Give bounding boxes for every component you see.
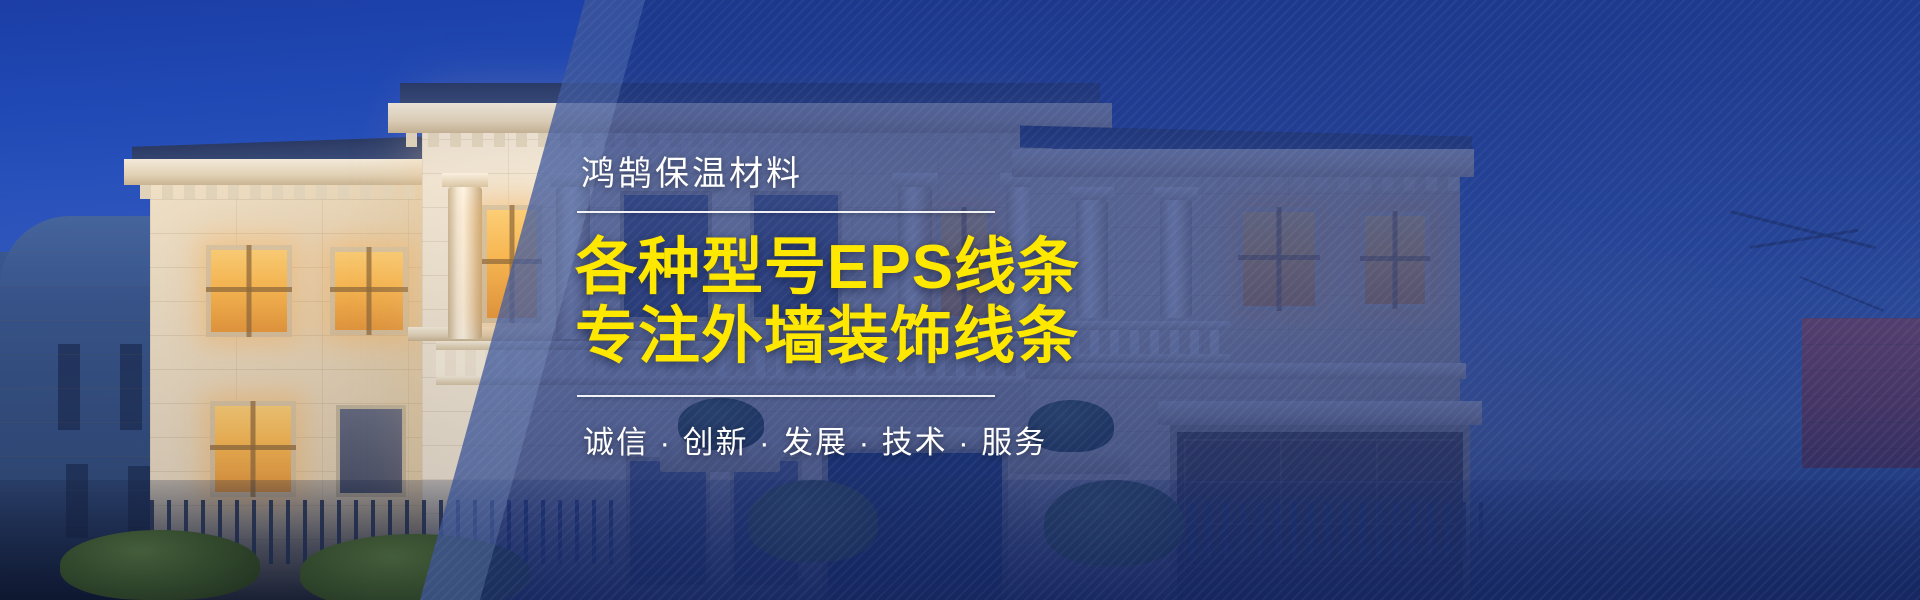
tagline: 诚信 · 创新 · 发展 · 技术 · 服务 <box>583 417 1135 462</box>
headline-line-2: 专注外墙装饰线条 <box>575 302 1135 371</box>
banner-content: 鸿鹄保温材料 各种型号EPS线条 专注外墙装饰线条 诚信 · 创新 · 发展 ·… <box>575 0 1135 600</box>
divider-bottom <box>577 395 995 397</box>
headline-line-1: 各种型号EPS线条 <box>575 233 1135 302</box>
headline-group: 各种型号EPS线条 专注外墙装饰线条 <box>575 233 1135 372</box>
divider-top <box>577 211 995 213</box>
hero-banner: 鸿鹄保温材料 各种型号EPS线条 专注外墙装饰线条 诚信 · 创新 · 发展 ·… <box>0 0 1920 600</box>
brand-subtitle: 鸿鹄保温材料 <box>581 146 1135 195</box>
